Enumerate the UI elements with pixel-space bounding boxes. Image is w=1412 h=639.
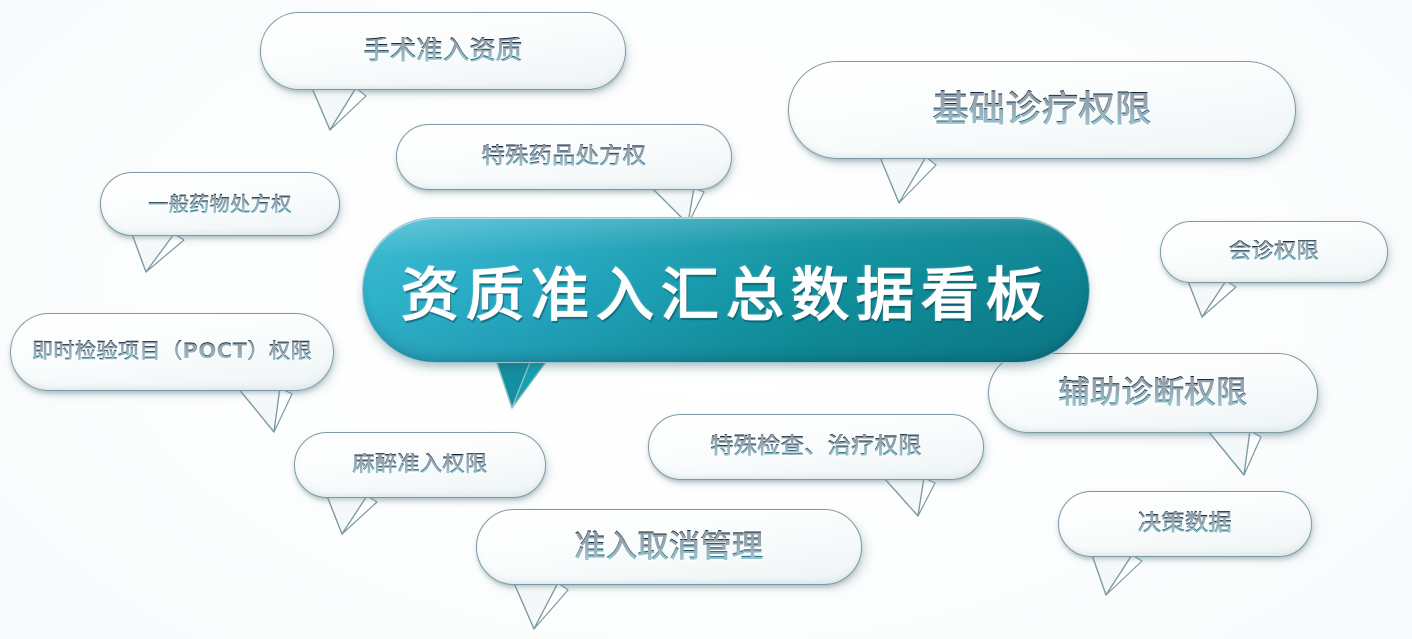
bubble-tail-decision-data	[1090, 553, 1148, 597]
bubble-label-special-exam-treatment: 特殊检查、治疗权限	[710, 434, 922, 459]
bubble-label-admission-cancel-management: 准入取消管理	[575, 530, 764, 564]
bubble-tail-auxiliary-diagnosis-permission	[1204, 429, 1266, 477]
bubble-label-basic-diagnosis-permission: 基础诊疗权限	[932, 90, 1151, 130]
bubble-anesthesia-admission[interactable]: 麻醉准入权限	[294, 432, 546, 498]
bubble-consultation-permission[interactable]: 会诊权限	[1160, 221, 1388, 283]
qualification-admission-dashboard-diagram: 手术准入资质 特殊药品处方权 一般药物处方权 即时检验项目（POCT）权限	[0, 0, 1412, 639]
bubble-label-consultation-permission: 会诊权限	[1229, 240, 1319, 264]
bubble-tail-consultation-permission	[1186, 279, 1242, 319]
bubble-label-special-drug-prescription: 特殊药品处方权	[482, 144, 647, 169]
bubble-tail-special-exam-treatment	[880, 476, 940, 518]
bubble-tail-surgery-admission	[310, 86, 370, 132]
bubble-label-general-drug-prescription: 一般药物处方权	[148, 193, 292, 215]
bubble-tail-anesthesia-admission	[325, 494, 383, 536]
bubble-tail-general-drug-prescription	[130, 232, 190, 274]
bubble-surgery-admission[interactable]: 手术准入资质	[260, 12, 626, 90]
center-bubble-label: 资质准入汇总数据看板	[401, 248, 1051, 332]
bubble-auxiliary-diagnosis-permission[interactable]: 辅助诊断权限	[988, 353, 1318, 433]
bubble-label-poct-permission: 即时检验项目（POCT）权限	[32, 340, 312, 363]
bubble-label-auxiliary-diagnosis-permission: 辅助诊断权限	[1059, 376, 1248, 410]
bubble-tail-poct-permission	[234, 386, 298, 434]
bubble-basic-diagnosis-permission[interactable]: 基础诊疗权限	[788, 61, 1296, 159]
bubble-admission-cancel-management[interactable]: 准入取消管理	[476, 509, 862, 585]
bubble-decision-data[interactable]: 决策数据	[1058, 491, 1312, 557]
bubble-label-surgery-admission: 手术准入资质	[363, 37, 522, 66]
bubble-label-anesthesia-admission: 麻醉准入权限	[352, 453, 487, 477]
bubble-poct-permission[interactable]: 即时检验项目（POCT）权限	[10, 313, 334, 391]
bubble-special-exam-treatment[interactable]: 特殊检查、治疗权限	[648, 414, 984, 480]
bubble-general-drug-prescription[interactable]: 一般药物处方权	[100, 172, 340, 236]
center-bubble-dashboard-title[interactable]: 资质准入汇总数据看板	[362, 217, 1090, 363]
bubble-tail-basic-diagnosis-permission	[878, 155, 942, 205]
bubble-special-drug-prescription[interactable]: 特殊药品处方权	[396, 124, 732, 190]
bubble-label-decision-data: 决策数据	[1138, 511, 1232, 536]
bubble-tail-admission-cancel-management	[512, 581, 574, 631]
